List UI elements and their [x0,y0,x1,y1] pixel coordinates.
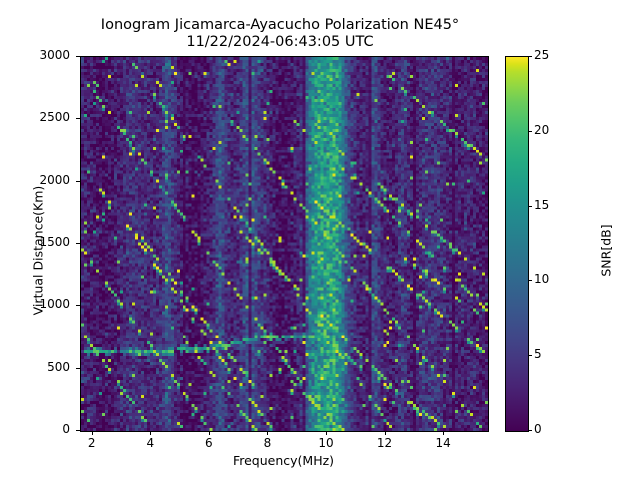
y-tick-label: 500 [10,360,70,374]
x-tick-mark [92,431,93,435]
colorbar-tick-label: 5 [534,347,574,361]
colorbar-tick-label: 20 [534,123,574,137]
y-tick-label: 3000 [10,48,70,62]
x-tick-mark [326,431,327,435]
colorbar-label: SNR[dB] [599,141,614,361]
x-tick-label: 12 [365,436,405,450]
y-tick-mark [76,243,80,244]
x-tick-mark [150,431,151,435]
x-tick-label: 2 [72,436,112,450]
chart-title: Ionogram Jicamarca-Ayacucho Polarization… [0,17,560,51]
colorbar-tick-label: 15 [534,198,574,212]
ionogram-plot-area [80,56,489,432]
x-tick-label: 14 [423,436,463,450]
x-tick-label: 10 [306,436,346,450]
y-tick-mark [76,56,80,57]
ionogram-figure: Ionogram Jicamarca-Ayacucho Polarization… [0,0,640,480]
colorbar-tick-label: 10 [534,272,574,286]
y-tick-mark [76,430,80,431]
y-tick-mark [76,118,80,119]
x-tick-label: 4 [130,436,170,450]
x-axis-label: Frequency(MHz) [80,453,487,468]
x-tick-label: 8 [247,436,287,450]
x-tick-mark [385,431,386,435]
y-tick-label: 2500 [10,110,70,124]
colorbar-tick-label: 0 [534,422,574,436]
ionogram-heatmap [81,57,488,431]
y-tick-label: 0 [10,422,70,436]
x-tick-mark [209,431,210,435]
x-tick-label: 6 [189,436,229,450]
y-tick-mark [76,368,80,369]
colorbar [505,56,529,432]
x-tick-mark [443,431,444,435]
y-tick-mark [76,305,80,306]
x-tick-mark [267,431,268,435]
colorbar-tick-label: 25 [534,48,574,62]
y-axis-label: Virtual Distance(Km) [31,141,46,361]
y-tick-mark [76,181,80,182]
